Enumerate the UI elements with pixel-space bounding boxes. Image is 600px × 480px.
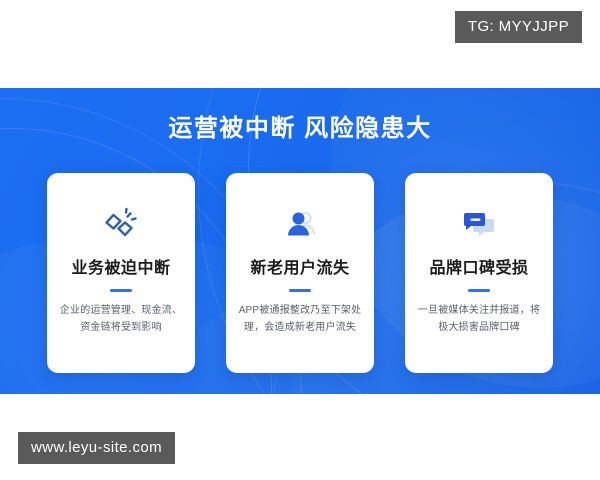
title-divider [289, 289, 311, 292]
feature-card-list: 业务被迫中断 企业的运营管理、现金流、资金链将受到影响 新老用户流失 APP被通… [47, 173, 553, 373]
feature-card-title: 业务被迫中断 [71, 259, 170, 278]
feature-card-description: 一旦被媒体关注并报道，将极大损害品牌口碑 [417, 303, 541, 336]
feature-card-description: APP被通报整改乃至下架处理，会造成新老用户流失 [238, 303, 362, 336]
title-divider [468, 289, 490, 292]
banner-panel: 运营被中断 风险隐患大 业务被迫中断 企业的运营管理、现金流、资金链将受到影响 [0, 88, 600, 394]
title-divider [110, 289, 132, 292]
feature-card-brand-reputation[interactable]: 品牌口碑受损 一旦被媒体关注并报道，将极大损害品牌口碑 [405, 173, 553, 373]
chat-bubble-minus-icon [459, 201, 499, 247]
feature-card-business-interruption[interactable]: 业务被迫中断 企业的运营管理、现金流、资金链将受到影响 [47, 173, 195, 373]
feature-card-title: 新老用户流失 [250, 259, 349, 278]
page-title: 运营被中断 风险隐患大 [0, 108, 600, 143]
feature-card-title: 品牌口碑受损 [429, 259, 528, 278]
feature-card-description: 企业的运营管理、现金流、资金链将受到影响 [59, 303, 183, 336]
user-loss-icon [280, 201, 320, 247]
telegram-watermark-badge: TG: MYYJJPP [455, 11, 582, 43]
feature-card-user-churn[interactable]: 新老用户流失 APP被通报整改乃至下架处理，会造成新老用户流失 [226, 173, 374, 373]
broken-chain-icon [101, 201, 141, 247]
site-url-watermark-badge: www.leyu-site.com [18, 432, 175, 464]
